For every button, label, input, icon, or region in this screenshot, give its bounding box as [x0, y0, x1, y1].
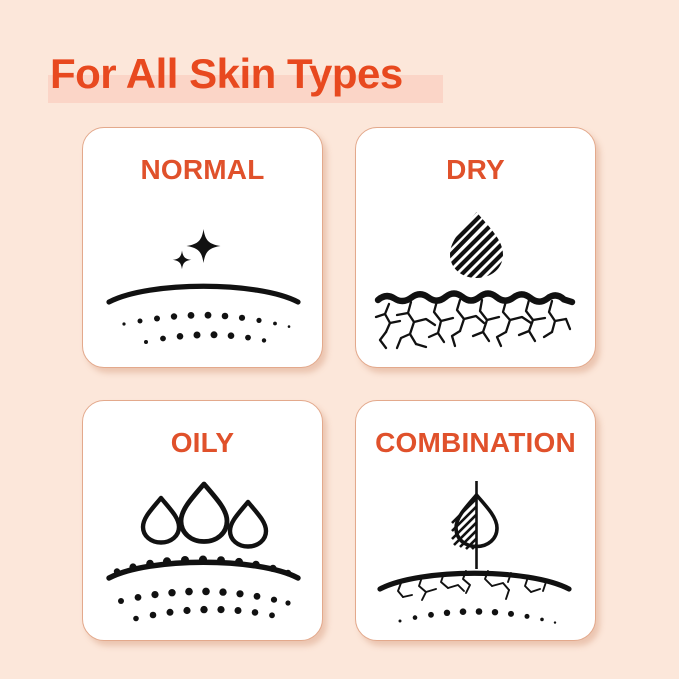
skin-combination-icon — [356, 465, 596, 640]
skin-normal-icon — [83, 192, 323, 367]
skin-dry-icon — [356, 192, 596, 367]
card-title-dry: DRY — [356, 154, 595, 186]
skin-type-card-combination[interactable]: COMBINATION — [355, 400, 596, 641]
card-title-combination: COMBINATION — [356, 427, 595, 459]
skin-type-card-dry[interactable]: DRY — [355, 127, 596, 368]
skin-type-card-normal[interactable]: NORMAL — [82, 127, 323, 368]
card-title-oily: OILY — [83, 427, 322, 459]
card-title-normal: NORMAL — [83, 154, 322, 186]
skin-oily-icon — [83, 465, 323, 640]
page-title: For All Skin Types — [50, 48, 403, 100]
page-header: For All Skin Types — [48, 48, 468, 104]
skin-types-grid: NORMAL — [82, 127, 596, 641]
skin-type-card-oily[interactable]: OILY — [82, 400, 323, 641]
